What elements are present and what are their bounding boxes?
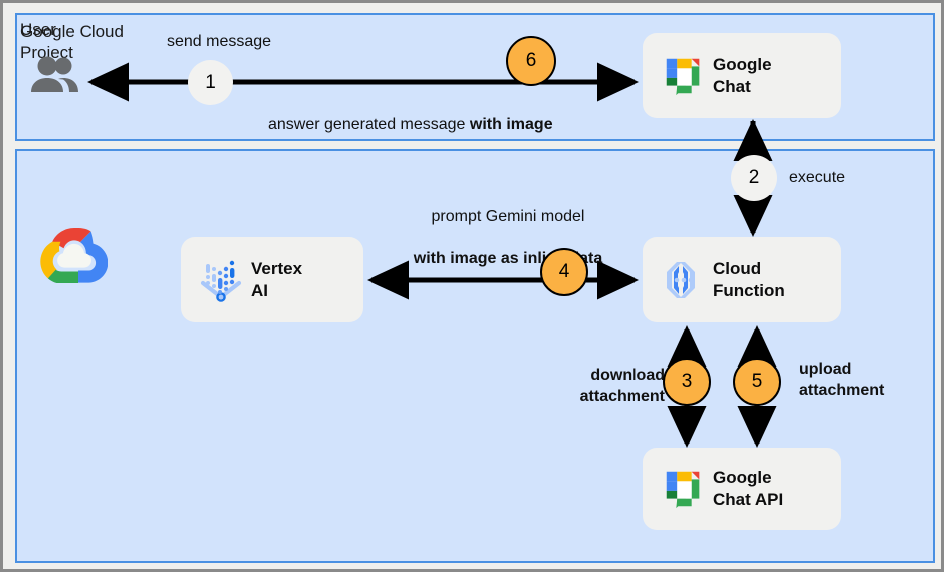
people-icon	[25, 55, 83, 95]
prompt-regular-text: prompt Gemini model	[385, 206, 631, 227]
google-chat-logo-icon	[655, 466, 713, 512]
flow-label-execute: execute	[789, 167, 845, 188]
prompt-bold-text: with image as inline data	[385, 248, 631, 269]
flow-label-upload-attachment: upload attachment	[799, 359, 939, 401]
step-marker-4: 4	[540, 248, 588, 296]
step-marker-5: 5	[733, 358, 781, 406]
node-google-chat-label: Google Chat	[713, 54, 772, 98]
flow-label-download-attachment: download attachment	[515, 365, 665, 407]
answer-bold-text: with image	[470, 116, 553, 133]
flow-label-answer-generated-message: answer generated message with image	[268, 93, 553, 135]
node-google-chat-api[interactable]: Google Chat API	[643, 448, 841, 530]
step-marker-1: 1	[188, 60, 233, 105]
vertex-ai-logo-icon	[193, 255, 251, 305]
cloud-function-logo-icon	[655, 255, 713, 305]
diagram-canvas: User Google Cloud Project	[0, 0, 944, 572]
flow-label-send-message: send message	[167, 31, 271, 52]
google-cloud-logo	[40, 225, 108, 283]
node-cloud-function[interactable]: Cloud Function	[643, 237, 841, 322]
step-marker-2: 2	[731, 155, 777, 201]
step-marker-3: 3	[663, 358, 711, 406]
step-marker-6: 6	[506, 36, 556, 86]
node-google-chat-api-label: Google Chat API	[713, 467, 783, 511]
answer-regular-text: answer generated message	[268, 116, 470, 133]
node-vertex-ai-label: Vertex AI	[251, 258, 302, 302]
node-google-chat[interactable]: Google Chat	[643, 33, 841, 118]
google-chat-logo-icon	[655, 53, 713, 99]
node-vertex-ai[interactable]: Vertex AI	[181, 237, 363, 322]
node-cloud-function-label: Cloud Function	[713, 258, 785, 302]
flow-label-prompt-gemini: prompt Gemini model with image as inline…	[385, 185, 631, 290]
